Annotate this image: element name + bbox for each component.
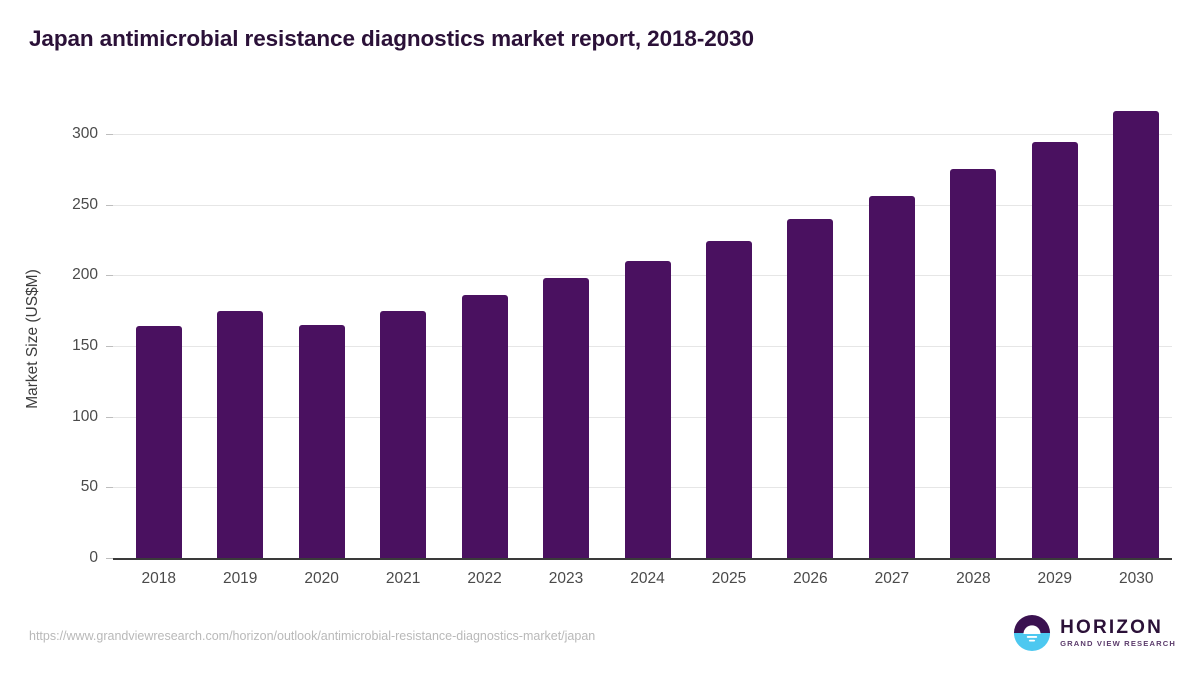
horizon-sunrise-circle-icon	[1013, 614, 1051, 652]
y-axis-tick	[106, 134, 113, 135]
y-axis-tick	[106, 205, 113, 206]
logo-text: HORIZON GRAND VIEW RESEARCH	[1060, 618, 1176, 648]
bar-2023[interactable]	[543, 278, 589, 558]
y-axis-tick	[106, 417, 113, 418]
x-axis-tick-label: 2020	[304, 570, 338, 588]
logo-name: HORIZON	[1060, 618, 1176, 637]
x-axis-tick-label: 2023	[549, 570, 583, 588]
x-axis-tick-label: 2025	[712, 570, 746, 588]
source-url[interactable]: https://www.grandviewresearch.com/horizo…	[29, 629, 595, 643]
x-axis-tick-label: 2018	[141, 570, 175, 588]
bar-2029[interactable]	[1032, 142, 1078, 558]
y-axis-tick-label: 300	[8, 125, 98, 143]
bar-2030[interactable]	[1113, 111, 1159, 558]
bar-2028[interactable]	[950, 169, 996, 558]
x-axis-tick-label: 2021	[386, 570, 420, 588]
x-axis-tick-label: 2027	[875, 570, 909, 588]
horizon-logo: HORIZON GRAND VIEW RESEARCH	[1013, 614, 1176, 652]
y-axis-tick-label: 0	[8, 549, 98, 567]
bar-2022[interactable]	[462, 295, 508, 558]
x-axis-tick-label: 2028	[956, 570, 990, 588]
y-axis-tick	[106, 487, 113, 488]
y-axis-tick-label: 50	[8, 478, 98, 496]
x-axis-tick-label: 2029	[1038, 570, 1072, 588]
y-axis-tick-label: 200	[8, 266, 98, 284]
x-axis-tick-label: 2030	[1119, 570, 1153, 588]
y-axis-tick-label: 100	[8, 408, 98, 426]
bar-2018[interactable]	[136, 326, 182, 558]
y-axis-tick-label: 150	[8, 337, 98, 355]
bar-2020[interactable]	[299, 325, 345, 558]
y-axis-tick	[106, 346, 113, 347]
bar-2027[interactable]	[869, 196, 915, 558]
chart-plot-area: Market Size (US$M) 050100150200250300 20…	[0, 0, 1200, 675]
x-axis-tick-label: 2026	[793, 570, 827, 588]
chart-card: Japan antimicrobial resistance diagnosti…	[0, 0, 1200, 675]
bar-2024[interactable]	[625, 261, 671, 558]
bar-2025[interactable]	[706, 241, 752, 558]
logo-tagline: GRAND VIEW RESEARCH	[1060, 640, 1176, 648]
x-axis-tick-label: 2022	[467, 570, 501, 588]
y-axis-tick-label: 250	[8, 196, 98, 214]
y-axis-tick	[106, 558, 113, 559]
bar-2021[interactable]	[380, 311, 426, 558]
x-axis-tick-label: 2019	[223, 570, 257, 588]
y-axis-tick	[106, 275, 113, 276]
x-axis-tick-label: 2024	[630, 570, 664, 588]
bar-2019[interactable]	[217, 311, 263, 558]
bar-2026[interactable]	[787, 219, 833, 558]
bar-series: 2018201920202021202220232024202520262027…	[113, 0, 1172, 675]
